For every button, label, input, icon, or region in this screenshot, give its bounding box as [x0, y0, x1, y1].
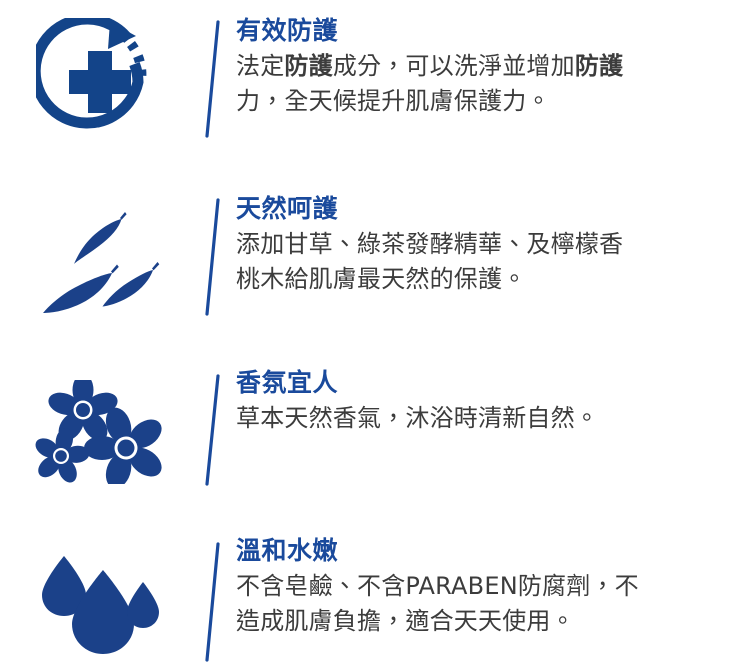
feature-body-line: 不含皂鹼、不含PARABEN防腐劑，不: [236, 569, 736, 604]
divider-cell: [200, 14, 226, 138]
feature-body: 不含皂鹼、不含PARABEN防腐劑，不 造成肌膚負擔，適合天天使用。: [236, 569, 736, 639]
section-divider: [202, 542, 224, 662]
feature-body-line: 添加甘草、綠茶發酵精華、及檸檬香: [236, 227, 736, 262]
feature-body: 法定防護成分，可以洗淨並增加防護 力，全天候提升肌膚保護力。: [236, 49, 736, 119]
feature-item-fragrance: 香氛宜人 草本天然香氣，沐浴時清新自然。: [0, 354, 750, 520]
divider-cell: [200, 366, 226, 486]
text-cell: 溫和水嫩 不含皂鹼、不含PARABEN防腐劑，不 造成肌膚負擔，適合天天使用。: [226, 534, 750, 639]
feature-title: 香氛宜人: [236, 366, 736, 400]
icon-cell: [0, 192, 200, 320]
feature-item-natural: 天然呵護 添加甘草、綠茶發酵精華、及檸檬香 桃木給肌膚最天然的保護。: [0, 178, 750, 354]
feature-body: 草本天然香氣，沐浴時清新自然。: [236, 401, 736, 436]
feature-body-line: 造成肌膚負擔，適合天天使用。: [236, 604, 736, 639]
shield-cross-rotate-icon: [36, 18, 164, 146]
section-divider: [202, 198, 224, 316]
water-droplets-icon: [39, 552, 161, 660]
icon-cell: [0, 534, 200, 660]
feature-body: 添加甘草、綠茶發酵精華、及檸檬香 桃木給肌膚最天然的保護。: [236, 227, 736, 297]
feature-body-line: 草本天然香氣，沐浴時清新自然。: [236, 401, 736, 436]
text-cell: 天然呵護 添加甘草、綠茶發酵精華、及檸檬香 桃木給肌膚最天然的保護。: [226, 192, 750, 297]
feature-item-mild: 溫和水嫩 不含皂鹼、不含PARABEN防腐劑，不 造成肌膚負擔，適合天天使用。: [0, 520, 750, 670]
section-divider: [202, 20, 224, 138]
feature-list: 有效防護 法定防護成分，可以洗淨並增加防護 力，全天候提升肌膚保護力。: [0, 0, 750, 670]
feature-body-line: 法定防護成分，可以洗淨並增加防護: [236, 49, 736, 84]
feature-body-line: 桃木給肌膚最天然的保護。: [236, 262, 736, 297]
body-text: 成分，可以洗淨並增加: [333, 52, 575, 80]
feature-title: 溫和水嫩: [236, 534, 736, 568]
divider-cell: [200, 534, 226, 662]
section-divider: [202, 374, 224, 486]
divider-cell: [200, 192, 226, 316]
body-text: 法定: [236, 52, 284, 80]
feature-title: 有效防護: [236, 14, 736, 48]
body-text-emphasis: 防護: [575, 52, 623, 80]
text-cell: 有效防護 法定防護成分，可以洗淨並增加防護 力，全天候提升肌膚保護力。: [226, 14, 750, 119]
feature-item-protection: 有效防護 法定防護成分，可以洗淨並增加防護 力，全天候提升肌膚保護力。: [0, 0, 750, 178]
icon-cell: [0, 366, 200, 484]
leaves-icon: [35, 208, 165, 320]
icon-cell: [0, 14, 200, 146]
text-cell: 香氛宜人 草本天然香氣，沐浴時清新自然。: [226, 366, 750, 436]
feature-body-line: 力，全天候提升肌膚保護力。: [236, 84, 736, 119]
feature-title: 天然呵護: [236, 192, 736, 226]
body-text-emphasis: 防護: [284, 52, 332, 80]
flowers-icon: [33, 380, 167, 484]
